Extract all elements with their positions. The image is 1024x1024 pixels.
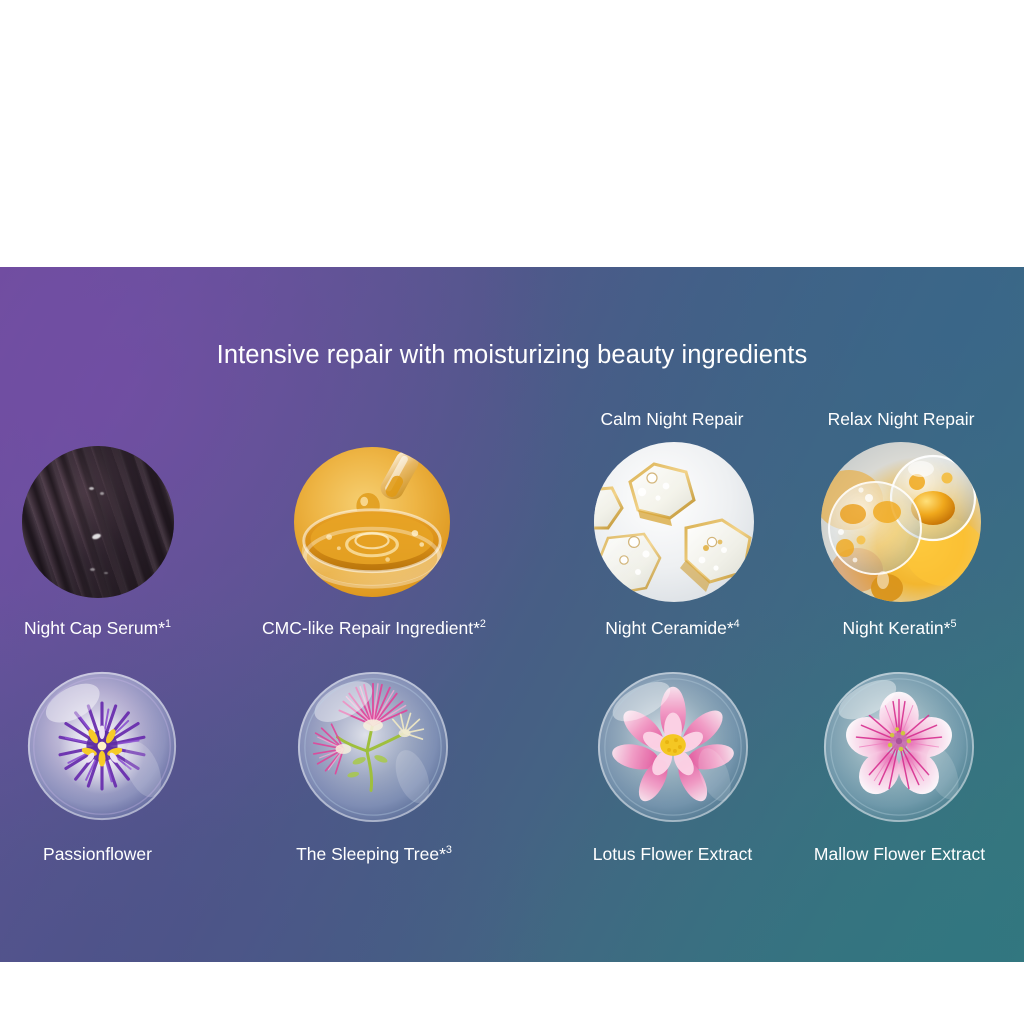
section-caption-relax: Relax Night Repair xyxy=(802,409,1000,430)
ingredient-name: Mallow Flower Extract xyxy=(814,844,985,864)
panel-headline: Intensive repair with moisturizing beaut… xyxy=(0,341,1024,370)
ingredient-image-night-keratin xyxy=(821,442,981,602)
ingredient-image-night-cap-serum xyxy=(22,446,174,598)
ingredient-image-passionflower xyxy=(24,668,180,824)
ingredient-image-night-ceramide xyxy=(594,442,754,602)
ingredient-caption-night-cap-serum: Night Cap Serum*1 xyxy=(0,620,195,638)
purple-passionflower-bubble xyxy=(24,668,180,824)
ingredient-image-the-sleeping-tree xyxy=(294,668,452,826)
ingredient-caption-passionflower: Passionflower xyxy=(0,846,195,864)
ingredient-image-mallow-flower-extract xyxy=(820,668,978,826)
footnote-marker: *5 xyxy=(944,618,957,638)
pink-lotus-bubble xyxy=(594,668,752,826)
footnote-marker: *3 xyxy=(439,844,452,864)
honey-dish-dropper-swatch xyxy=(294,447,450,597)
dark-serum-strand-swatch xyxy=(22,446,174,598)
ingredient-image-cmc-like-repair-ingredient xyxy=(294,447,450,597)
ingredient-name: Night Ceramide xyxy=(605,618,727,638)
footnote-marker: *2 xyxy=(473,618,486,638)
ingredient-name: Night Keratin xyxy=(842,618,943,638)
page-canvas: Intensive repair with moisturizing beaut… xyxy=(0,0,1024,1024)
ingredient-name: The Sleeping Tree xyxy=(296,844,439,864)
ingredient-caption-the-sleeping-tree: The Sleeping Tree*3 xyxy=(243,846,505,864)
ingredient-caption-lotus-flower-extract: Lotus Flower Extract xyxy=(575,846,770,864)
golden-oil-bubble-swatch xyxy=(821,442,981,602)
footnote-marker: *4 xyxy=(727,618,740,638)
ingredient-name: Night Cap Serum xyxy=(24,618,158,638)
ingredient-caption-night-ceramide: Night Ceramide*4 xyxy=(575,620,770,638)
ingredient-name: Lotus Flower Extract xyxy=(593,844,753,864)
footnote-marker: *1 xyxy=(158,618,171,638)
pink-mallow-flower-bubble xyxy=(820,668,978,826)
ingredient-name: Passionflower xyxy=(43,844,152,864)
pink-mimosa-blossom-bubble xyxy=(294,668,452,826)
ingredient-image-lotus-flower-extract xyxy=(594,668,752,826)
ingredient-name: CMC-like Repair Ingredient xyxy=(262,618,473,638)
hexagon-crystal-gel-swatch xyxy=(594,442,754,602)
ingredient-caption-cmc-like-repair-ingredient: CMC-like Repair Ingredient*2 xyxy=(243,620,505,638)
ingredient-caption-night-keratin: Night Keratin*5 xyxy=(802,620,997,638)
ingredient-caption-mallow-flower-extract: Mallow Flower Extract xyxy=(802,846,997,864)
section-caption-calm: Calm Night Repair xyxy=(573,409,771,430)
